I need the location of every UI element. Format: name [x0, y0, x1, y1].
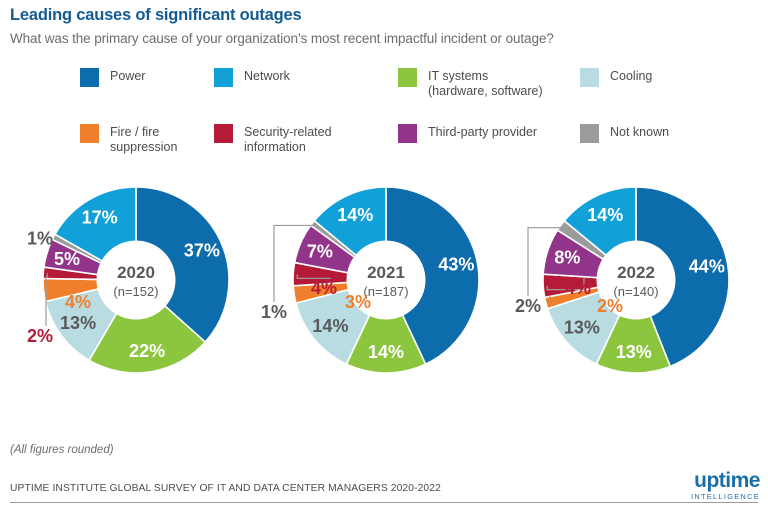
slice-value-label: 44% [689, 256, 725, 276]
legend-swatch [214, 124, 233, 143]
slice-value-label: 14% [368, 342, 404, 362]
donut-center-year: 2021 [367, 263, 405, 282]
legend-item-power[interactable]: Power [80, 68, 145, 87]
slice-value-label: 2% [27, 326, 53, 346]
rounded-figures-note: (All figures rounded) [10, 444, 114, 456]
legend-label: Cooling [610, 69, 652, 84]
slice-value-label: 17% [82, 208, 118, 228]
slice-value-label: 3% [345, 292, 371, 312]
legend-item-it-systems[interactable]: IT systems (hardware, software) [398, 68, 543, 98]
legend-item-fire-fire[interactable]: Fire / fire suppression [80, 124, 177, 154]
donut-center-sample-size: (n=152) [113, 284, 158, 299]
donut-chart-2021: 2021(n=187)43%14%14%3%4%7%1%14% [250, 160, 506, 435]
legend-item-network[interactable]: Network [214, 68, 290, 87]
legend-swatch [80, 124, 99, 143]
legend-item-third-party-provider[interactable]: Third-party provider [398, 124, 537, 143]
legend-swatch [580, 124, 599, 143]
footer-divider [10, 502, 758, 503]
chart-legend: PowerNetworkIT systems (hardware, softwa… [80, 68, 760, 163]
slice-value-label: 14% [337, 205, 373, 225]
slice-value-label: 1% [261, 302, 287, 322]
legend-swatch [398, 124, 417, 143]
legend-item-security-related[interactable]: Security-related information [214, 124, 332, 154]
legend-swatch [80, 68, 99, 87]
legend-label: Not known [610, 125, 669, 140]
donut-chart-2022: 2022(n=140)44%13%13%2%4%8%2%14% [500, 160, 756, 435]
legend-swatch [214, 68, 233, 87]
logo-wordmark: uptime [664, 470, 760, 491]
slice-value-label: 7% [307, 241, 333, 261]
slice-value-label: 22% [129, 341, 165, 361]
slice-value-label: 1% [27, 229, 53, 249]
slice-value-label: 4% [65, 292, 91, 312]
slice-value-label: 13% [564, 318, 600, 338]
donut-center-year: 2022 [617, 263, 655, 282]
donut-chart-group: 2020(n=152)37%22%13%4%2%5%1%17%2021(n=18… [0, 160, 768, 435]
slice-value-label: 2% [597, 296, 623, 316]
donut-center-year: 2020 [117, 263, 155, 282]
legend-label: Network [244, 69, 290, 84]
logo-sub-label: INTELLIGENCE [664, 492, 760, 502]
legend-label: Third-party provider [428, 125, 537, 140]
slice-value-label: 8% [554, 248, 580, 268]
legend-label: Fire / fire suppression [110, 125, 177, 154]
legend-swatch [398, 68, 417, 87]
source-line: UPTIME INSTITUTE GLOBAL SURVEY OF IT AND… [10, 483, 441, 494]
slice-value-label: 5% [54, 249, 80, 269]
legend-label: Security-related information [244, 125, 332, 154]
donut-chart-2020: 2020(n=152)37%22%13%4%2%5%1%17% [0, 160, 256, 435]
uptime-intelligence-logo: uptime INTELLIGENCE [664, 470, 760, 502]
slice-value-label: 43% [438, 254, 474, 274]
slice-value-label: 13% [616, 342, 652, 362]
slice-value-label: 14% [587, 205, 623, 225]
page-title: Leading causes of significant outages [10, 6, 302, 25]
slice-value-label: 14% [312, 316, 348, 336]
legend-item-cooling[interactable]: Cooling [580, 68, 652, 87]
legend-item-not-known[interactable]: Not known [580, 124, 669, 143]
slice-value-label: 2% [515, 296, 541, 316]
slice-value-label: 13% [60, 313, 96, 333]
slice-value-label: 37% [184, 241, 220, 261]
page-subtitle: What was the primary cause of your organ… [10, 31, 554, 46]
legend-label: Power [110, 69, 145, 84]
legend-label: IT systems (hardware, software) [428, 69, 543, 98]
legend-swatch [580, 68, 599, 87]
slice-value-label: 4% [311, 278, 337, 298]
slice-value-label: 4% [565, 278, 591, 298]
